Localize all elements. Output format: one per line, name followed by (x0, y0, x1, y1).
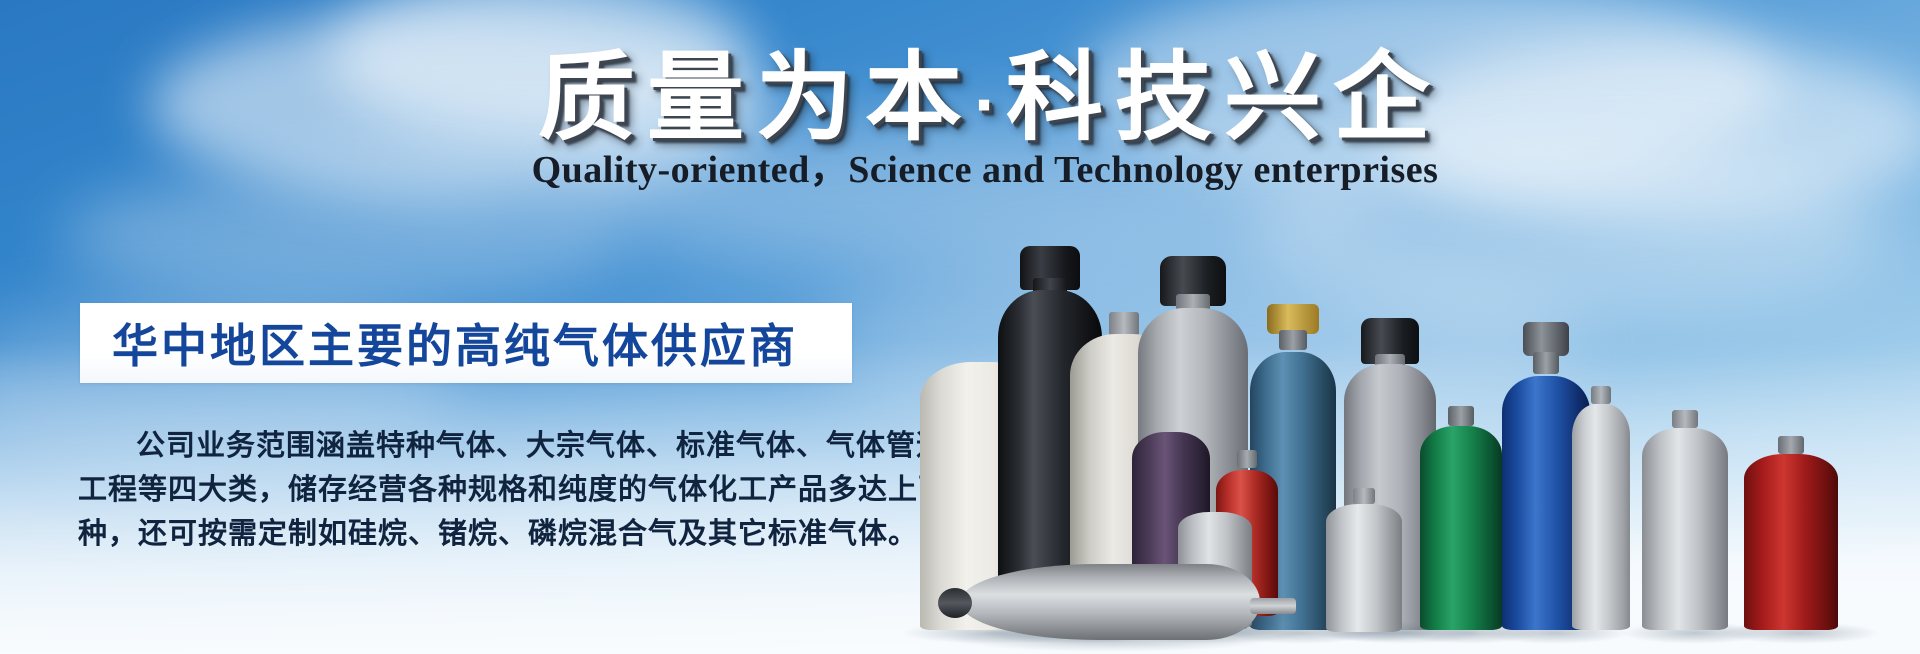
banner-subtitle: Quality-oriented，Science and Technology … (0, 138, 1920, 193)
paragraph-line-2: 工程等四大类，储存经营各种规格和纯度的气体化工产品多达上百 (78, 468, 868, 512)
paragraph-line-3: 种，还可按需定制如硅烷、锗烷、磷烷混合气及其它标准气体。 (78, 512, 868, 556)
banner-paragraph: 公司业务范围涵盖特种气体、大宗气体、标准气体、气体管道 工程等四大类，储存经营各… (78, 424, 868, 556)
highlight-box: 华中地区主要的高纯气体供应商 (80, 303, 852, 383)
headline-part-1: 质量为本 (538, 43, 974, 152)
paragraph-line-1: 公司业务范围涵盖特种气体、大宗气体、标准气体、气体管道 (78, 424, 868, 468)
green-cylinder (1420, 422, 1502, 630)
highlight-box-text: 华中地区主要的高纯气体供应商 (80, 310, 798, 376)
aluminum-cylinder (1572, 400, 1630, 630)
headline-part-2: 科技兴企 (1006, 43, 1442, 152)
dark-red-cylinder (1744, 450, 1838, 630)
lying-cylinder (960, 564, 1260, 640)
headline-separator-dot: · (974, 65, 1006, 145)
lying-cylinder-valve (938, 588, 972, 618)
silver-cylinder-tall (1642, 424, 1728, 630)
gas-cylinder-group (920, 234, 1920, 654)
silver-cylinder-front (1326, 500, 1402, 632)
promo-banner: 质量为本·科技兴企 Quality-oriented，Science and T… (0, 0, 1920, 654)
lying-cylinder-neck (1250, 598, 1296, 614)
